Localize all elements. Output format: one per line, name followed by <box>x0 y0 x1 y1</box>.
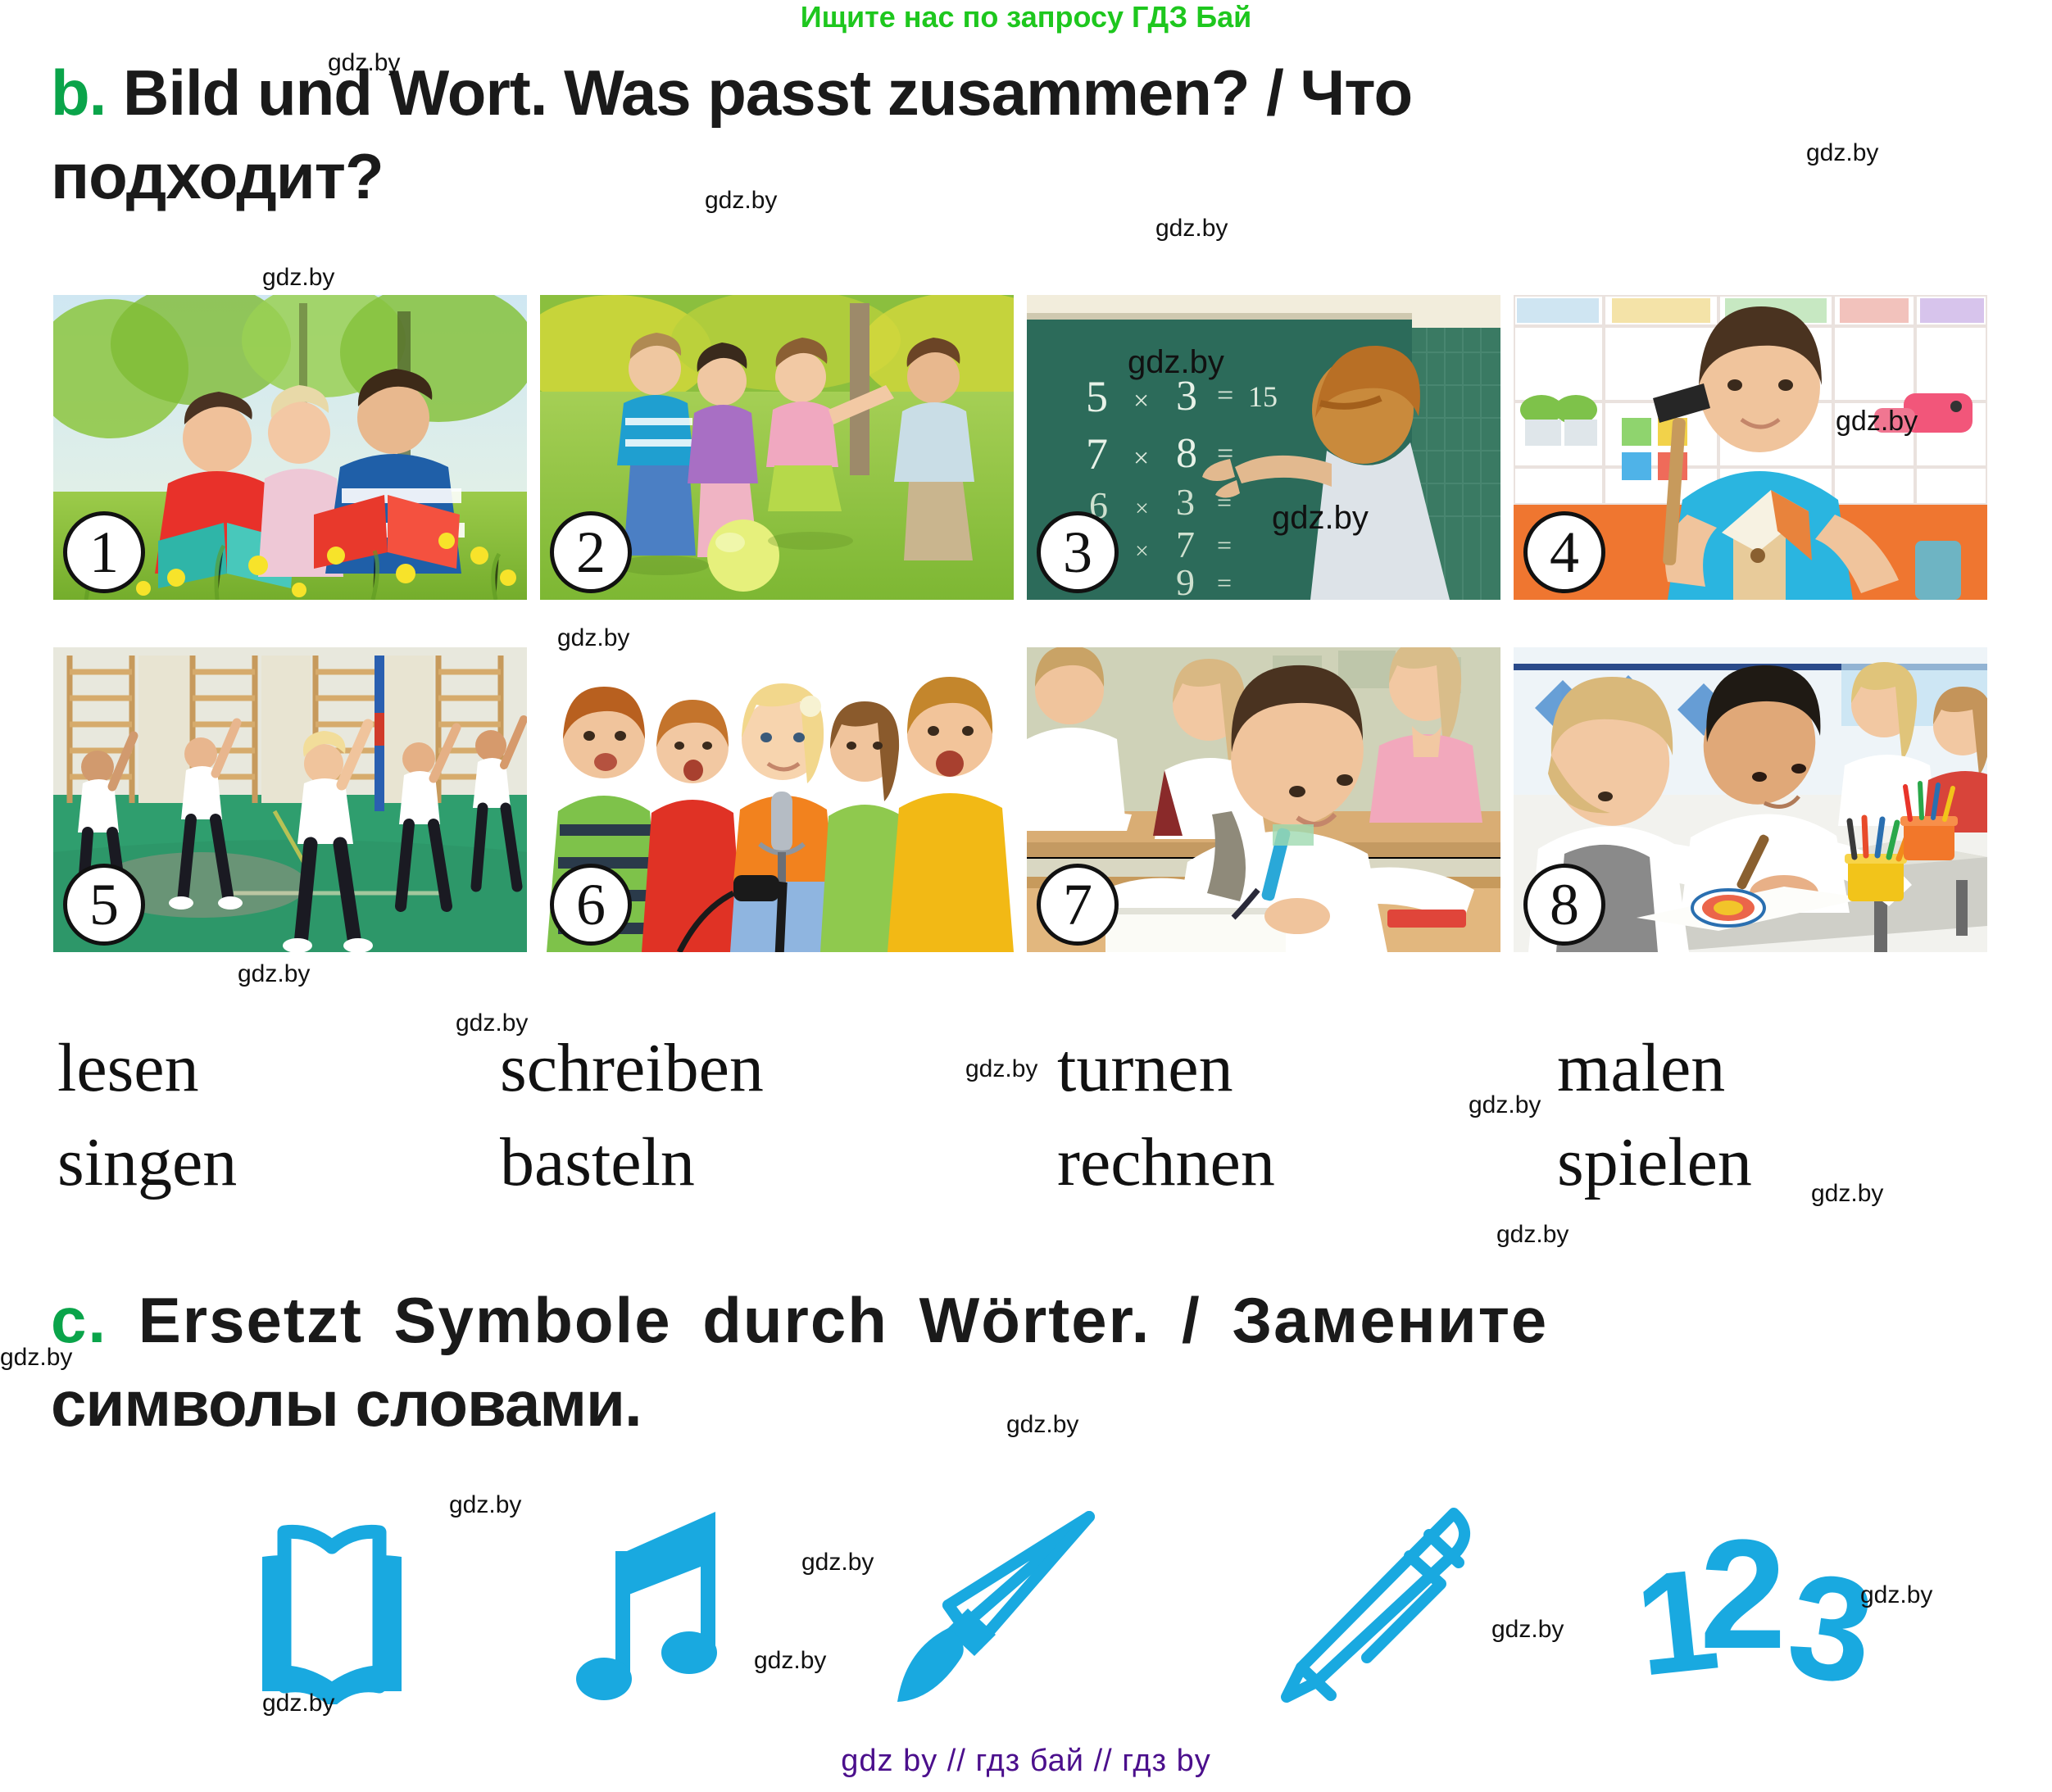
svg-text:15: 15 <box>1248 380 1278 413</box>
svg-text:×: × <box>1133 386 1149 416</box>
word-bank-row-1: lesen schreiben turnen malen <box>57 1028 1991 1108</box>
pen-icon[interactable] <box>1269 1504 1482 1708</box>
picture-card-6[interactable]: 6 <box>540 647 1014 952</box>
picture-card-2[interactable]: 2 <box>540 295 1014 600</box>
picture-number-badge: 7 <box>1037 864 1119 946</box>
site-promo-banner: Ищите нас по запросу ГДЗ Бай <box>0 0 2052 34</box>
svg-text:×: × <box>1133 443 1149 474</box>
picture-grid-row-2: 5 <box>53 647 2004 952</box>
word-spielen[interactable]: spielen <box>1557 1123 1926 1202</box>
word-schreiben[interactable]: schreiben <box>500 1028 1057 1108</box>
picture-number-badge: 8 <box>1523 864 1605 946</box>
picture-grid-row-1: 1 <box>53 295 2004 600</box>
exercise-c-line1: Ersetzt Symbole durch Wörter. / Замените <box>138 1284 1549 1356</box>
svg-text:7: 7 <box>1086 429 1108 479</box>
svg-text:2: 2 <box>1700 1512 1786 1681</box>
svg-text:5: 5 <box>1086 372 1108 421</box>
word-turnen[interactable]: turnen <box>1057 1028 1557 1108</box>
numbers-123-icon[interactable]: 1 2 3 <box>1639 1512 1877 1700</box>
exercise-b-heading: b. Bild und Wort. Was passt zusammen? / … <box>51 51 2018 218</box>
picture-number-badge: 2 <box>550 511 632 593</box>
watermark-text: gdz.by <box>262 264 334 292</box>
svg-text:×: × <box>1135 495 1149 522</box>
word-bank-row-2: singen basteln rechnen spielen <box>57 1123 1991 1202</box>
svg-text:×: × <box>1135 538 1149 565</box>
svg-text:3: 3 <box>1779 1541 1877 1700</box>
exercise-b-letter: b. <box>51 57 106 129</box>
watermark-text: gdz.by <box>1155 215 1228 243</box>
picture-number-badge: 1 <box>63 511 145 593</box>
picture-card-5[interactable]: 5 <box>53 647 527 952</box>
word-singen[interactable]: singen <box>57 1123 500 1202</box>
svg-text:3: 3 <box>1176 481 1195 523</box>
exercise-c-letter: c. <box>51 1284 107 1356</box>
svg-text:9: 9 <box>1176 561 1195 600</box>
paintbrush-icon[interactable] <box>889 1504 1110 1708</box>
exercise-b-line1: Bild und Wort. Was passt zusammen? / Что <box>123 57 1412 129</box>
picture-number-badge: 3 <box>1037 511 1119 593</box>
music-note-icon[interactable] <box>576 1504 732 1708</box>
exercise-b-line2: подходит? <box>51 140 384 212</box>
picture-card-1[interactable]: 1 <box>53 295 527 600</box>
svg-text:=: = <box>1217 568 1232 597</box>
picture-card-4[interactable]: 4 <box>1514 295 1987 600</box>
worksheet-page: Ищите нас по запросу ГДЗ Бай b. Bild und… <box>0 0 2052 1792</box>
word-rechnen[interactable]: rechnen <box>1057 1123 1557 1202</box>
exercise-c-heading: c. Ersetzt Symbole durch Wörter. / Замен… <box>51 1278 2018 1445</box>
svg-text:=: = <box>1217 530 1232 560</box>
picture-card-7[interactable]: 7 <box>1027 647 1500 952</box>
word-lesen[interactable]: lesen <box>57 1028 500 1108</box>
svg-text:8: 8 <box>1176 430 1197 477</box>
word-malen[interactable]: malen <box>1557 1028 1926 1108</box>
open-book-icon[interactable] <box>246 1508 418 1704</box>
symbol-row: 1 2 3 <box>246 1487 1877 1725</box>
svg-text:7: 7 <box>1176 524 1195 565</box>
picture-card-3[interactable]: 5 × 3 = 15 7 × 8 = 6 × 3 = × <box>1027 295 1500 600</box>
watermark-text: gdz.by <box>238 960 310 988</box>
word-basteln[interactable]: basteln <box>500 1123 1057 1202</box>
svg-text:3: 3 <box>1176 373 1197 420</box>
site-footer-watermark: gdz by // гдз бай // гдз by <box>0 1744 2052 1779</box>
exercise-c-line2: символы словами. <box>51 1368 642 1440</box>
picture-number-badge: 4 <box>1523 511 1605 593</box>
picture-number-badge: 5 <box>63 864 145 946</box>
svg-text:=: = <box>1217 379 1233 411</box>
watermark-text: gdz.by <box>1496 1221 1569 1249</box>
picture-card-8[interactable]: 8 <box>1514 647 1987 952</box>
picture-number-badge: 6 <box>550 864 632 946</box>
